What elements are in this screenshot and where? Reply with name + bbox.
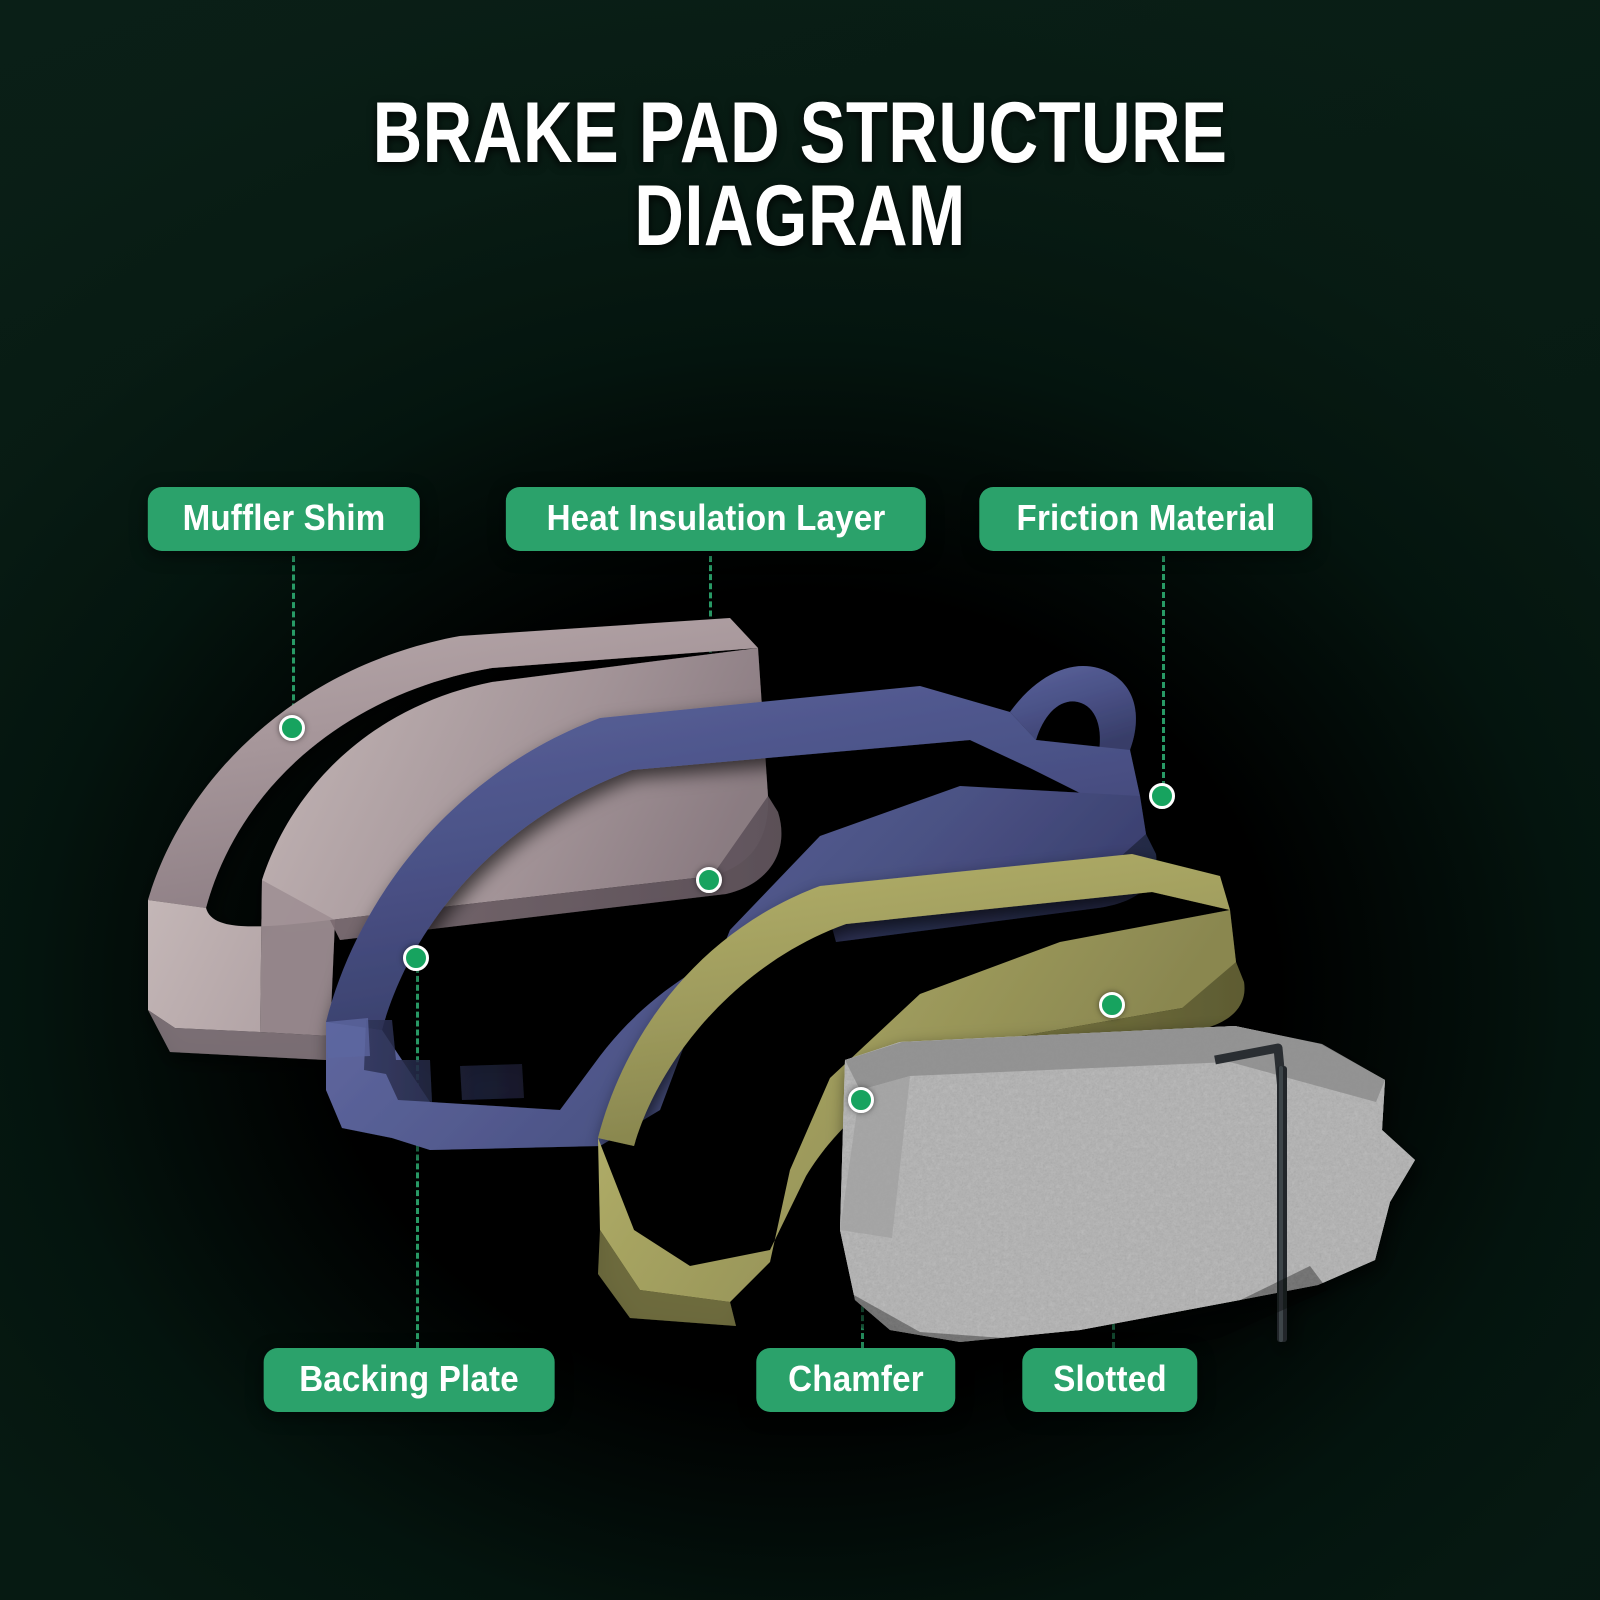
label-muffler-shim[interactable]: Muffler Shim (148, 487, 420, 551)
callout-dot-backing-plate[interactable] (403, 945, 429, 971)
layer-friction-material (800, 990, 1460, 1390)
label-slotted[interactable]: Slotted (1022, 1348, 1197, 1412)
title-line-1: BRAKE PAD STRUCTURE (160, 92, 1440, 175)
label-muffler-shim-text: Muffler Shim (183, 500, 386, 536)
label-backing-plate-text: Backing Plate (299, 1361, 519, 1397)
label-chamfer[interactable]: Chamfer (756, 1348, 955, 1412)
diagram-canvas: BRAKE PAD STRUCTURE DIAGRAM (0, 0, 1600, 1600)
label-slotted-text: Slotted (1053, 1361, 1167, 1397)
label-friction-material-text: Friction Material (1017, 500, 1276, 536)
label-heat-insulation-layer-text: Heat Insulation Layer (547, 500, 886, 536)
label-friction-material[interactable]: Friction Material (979, 487, 1312, 551)
title-line-2: DIAGRAM (160, 175, 1440, 258)
label-chamfer-text: Chamfer (788, 1361, 924, 1397)
callout-dot-muffler-shim[interactable] (279, 715, 305, 741)
page-title: BRAKE PAD STRUCTURE DIAGRAM (0, 92, 1600, 259)
label-heat-insulation-layer[interactable]: Heat Insulation Layer (506, 487, 926, 551)
callout-dot-slotted[interactable] (1099, 992, 1125, 1018)
label-backing-plate[interactable]: Backing Plate (264, 1348, 555, 1412)
brake-pad-exploded-assembly (130, 590, 1450, 1150)
callout-dot-chamfer[interactable] (848, 1087, 874, 1113)
callout-dot-heat-insulation-layer[interactable] (696, 867, 722, 893)
callout-dot-friction-material[interactable] (1149, 783, 1175, 809)
